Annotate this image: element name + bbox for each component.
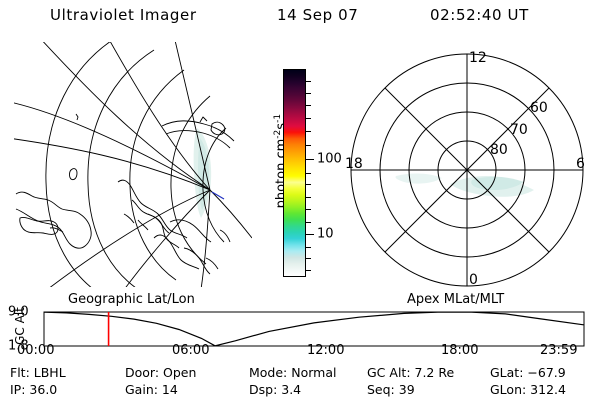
colorbar-panel: photon cm-2s-1 10010 xyxy=(252,45,348,290)
status-door: Door: Open xyxy=(125,365,196,380)
apex-polar-panel: 12 6 0 18 60 70 80 xyxy=(338,42,596,288)
colorbar-minor-tick xyxy=(306,247,311,248)
colorbar-minor-tick xyxy=(306,105,311,106)
status-glon: GLon: 312.4 xyxy=(490,382,566,397)
colorbar-minor-tick xyxy=(306,131,311,132)
colorbar-gradient xyxy=(284,70,305,276)
colorbar-minor-tick xyxy=(306,118,311,119)
observation-date: 14 Sep 07 xyxy=(277,6,358,24)
gc-alt-ytick-high: 9.0 xyxy=(8,306,29,319)
xtick-2359: 23:59 xyxy=(540,343,577,358)
instrument-title: Ultraviolet Imager xyxy=(50,6,197,24)
uvi-screenshot-root: Ultraviolet Imager 14 Sep 07 02:52:40 UT xyxy=(0,0,600,400)
observation-time-ut: 02:52:40 UT xyxy=(430,6,529,24)
geographic-map-panel xyxy=(14,42,252,287)
xtick-1800: 18:00 xyxy=(441,343,478,358)
colorbar-minor-tick xyxy=(306,197,311,198)
colorbar-gradient-box xyxy=(283,69,306,277)
gc-alt-plot-frame xyxy=(44,312,584,346)
colorbar-minor-tick xyxy=(306,222,311,223)
mlat-label-80: 80 xyxy=(490,142,508,158)
colorbar-major-tick xyxy=(306,159,314,160)
colorbar-tick-label-10: 10 xyxy=(317,228,334,241)
colorbar-minor-tick xyxy=(306,173,311,174)
header-bar: Ultraviolet Imager 14 Sep 07 02:52:40 UT xyxy=(0,4,600,30)
xtick-0000: 00:00 xyxy=(17,343,54,358)
colorbar-label-exponent-2: -1 xyxy=(273,114,283,123)
colorbar-minor-tick xyxy=(306,145,311,146)
colorbar-label-exponent-1: -2 xyxy=(273,130,283,139)
colorbar-major-tick xyxy=(306,234,314,235)
status-ip: IP: 36.0 xyxy=(10,382,57,397)
colorbar-minor-tick xyxy=(306,270,311,271)
mlt-spokes xyxy=(351,54,583,286)
apex-polar-svg: 12 6 0 18 60 70 80 xyxy=(338,42,596,288)
colorbar-minor-tick xyxy=(306,184,311,185)
xtick-1200: 12:00 xyxy=(307,343,344,358)
geographic-map-svg xyxy=(14,42,252,287)
status-seq: Seq: 39 xyxy=(367,382,415,397)
status-glat: GLat: −67.9 xyxy=(490,365,566,380)
status-gain: Gain: 14 xyxy=(125,382,178,397)
mlt-label-6: 6 xyxy=(576,156,585,172)
colorbar-minor-tick xyxy=(306,209,311,210)
graticule-meridians xyxy=(14,42,252,287)
colorbar-minor-tick xyxy=(306,81,311,82)
status-filter: Flt: LBHL xyxy=(10,365,66,380)
status-dsp: Dsp: 3.4 xyxy=(249,382,301,397)
mlt-label-12: 12 xyxy=(469,50,487,66)
gc-alt-plot-svg[interactable] xyxy=(0,305,600,363)
mlat-label-70: 70 xyxy=(510,122,528,138)
colorbar-minor-tick xyxy=(306,93,311,94)
status-gc-alt: GC Alt: 7.2 Re xyxy=(367,365,454,380)
colorbar-minor-tick xyxy=(306,258,311,259)
status-bar: Flt: LBHL Door: Open Mode: Normal GC Alt… xyxy=(0,363,600,400)
mlt-label-0: 0 xyxy=(469,272,478,288)
auroral-emission-overlay-polar xyxy=(395,174,534,197)
gc-alt-orbit-panel[interactable]: GC Alt 9.0 1.8 00:00 06:00 12:00 18:00 2… xyxy=(0,305,600,363)
xtick-0600: 06:00 xyxy=(172,343,209,358)
mlt-label-18: 18 xyxy=(345,156,363,172)
mlat-label-60: 60 xyxy=(530,100,548,116)
gc-alt-curve xyxy=(44,312,584,346)
status-mode: Mode: Normal xyxy=(249,365,336,380)
